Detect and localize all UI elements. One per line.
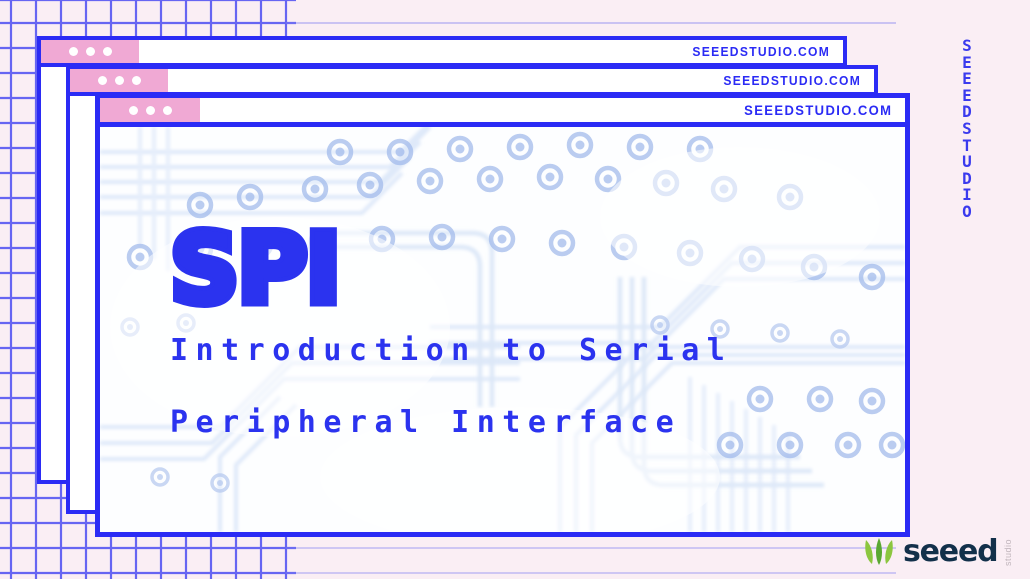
window-dot-icon[interactable] (115, 76, 124, 85)
window-controls-dots[interactable] (70, 69, 168, 92)
window-dot-icon[interactable] (103, 47, 112, 56)
window-dot-icon[interactable] (146, 106, 155, 115)
seeed-studio-logo[interactable]: seeed studio (862, 537, 1013, 567)
hero-title-line-1: Introduction to Serial (170, 333, 732, 368)
poster-canvas: SEEEDSTUDIO.COM SEEEDSTUDIO.COM SEEEDSTU… (0, 0, 1030, 579)
window-dot-icon[interactable] (132, 76, 141, 85)
window-titlebar: SEEEDSTUDIO.COM (70, 69, 874, 96)
grid-rule-extension (286, 0, 906, 40)
browser-window-front[interactable]: SEEEDSTUDIO.COM (95, 93, 910, 537)
window-controls-dots[interactable] (41, 40, 139, 63)
window-domain-label: SEEEDSTUDIO.COM (744, 102, 905, 118)
window-dot-icon[interactable] (98, 76, 107, 85)
window-dot-icon[interactable] (69, 47, 78, 56)
window-body: SPI Introduction to Serial Peripheral In… (100, 127, 905, 532)
window-domain-label: SEEEDSTUDIO.COM (692, 44, 843, 59)
window-controls-dots[interactable] (100, 98, 200, 122)
seeed-leaf-icon (862, 537, 896, 567)
vertical-letter: O (947, 204, 987, 221)
window-dot-icon[interactable] (86, 47, 95, 56)
window-titlebar: SEEEDSTUDIO.COM (41, 40, 843, 67)
window-domain-label: SEEEDSTUDIO.COM (723, 73, 874, 88)
spi-logo: SPI (170, 221, 339, 317)
hero-content: SPI Introduction to Serial Peripheral In… (100, 127, 905, 532)
window-dot-icon[interactable] (163, 106, 172, 115)
studio-suffix: studio (1004, 540, 1013, 566)
hero-title-line-2: Peripheral Interface (170, 405, 681, 440)
vertical-seeedstudio-wordmark: S E E E D S T U D I O (947, 38, 987, 221)
window-titlebar: SEEEDSTUDIO.COM (100, 98, 905, 127)
seeed-wordmark: seeed (903, 537, 997, 567)
window-dot-icon[interactable] (129, 106, 138, 115)
